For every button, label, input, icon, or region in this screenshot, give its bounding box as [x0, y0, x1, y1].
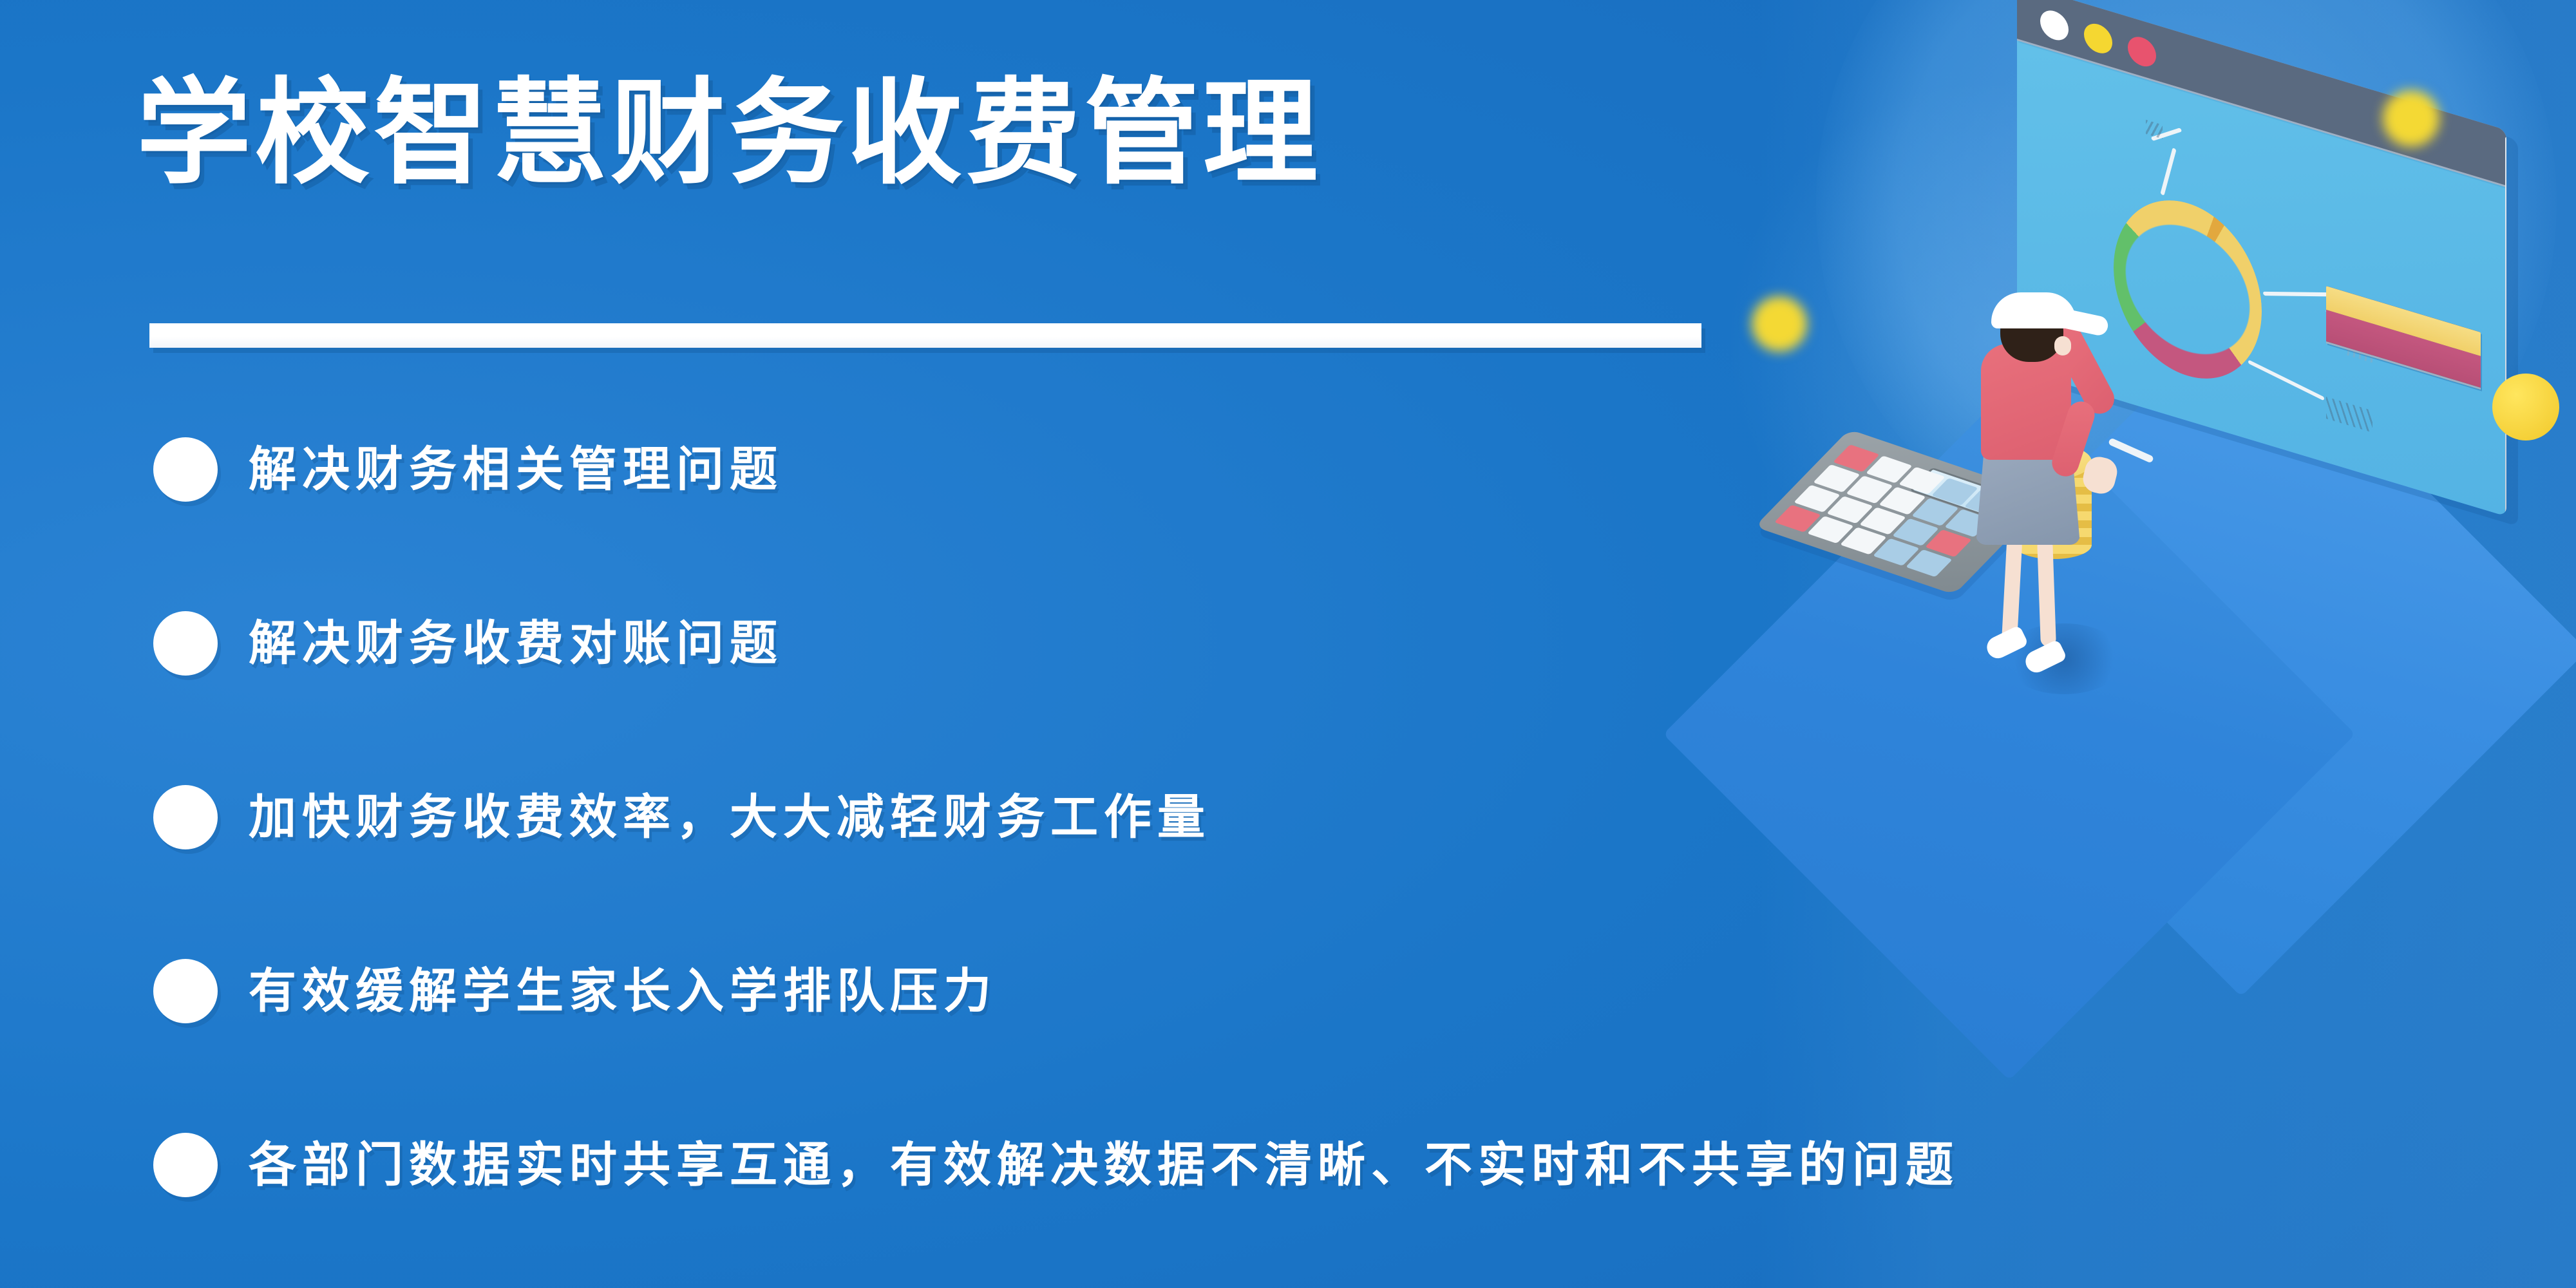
bullet-dot-icon [153, 1133, 218, 1197]
leader-line [2248, 360, 2325, 401]
person-hand [2080, 454, 2120, 497]
yellow-dot-decoration [2383, 90, 2439, 147]
list-item-label: 加快财务收费效率，大大减轻财务工作量 [249, 793, 1211, 841]
pen-icon [2108, 437, 2154, 463]
person-ear [2054, 336, 2071, 355]
promo-banner: 学校智慧财务收费管理 解决财务相关管理问题 解决财务收费对账问题 加快财务收费效… [0, 0, 2576, 1288]
list-item-label: 各部门数据实时共享互通，有效解决数据不清晰、不实时和不共享的问题 [249, 1141, 1959, 1189]
page-title: 学校智慧财务收费管理 [137, 76, 1321, 191]
person-leg [2037, 538, 2056, 647]
title-underline-rule [149, 323, 1701, 348]
analyst-person [1958, 289, 2151, 675]
bullet-dot-icon [153, 611, 218, 676]
bullet-dot-icon [153, 959, 218, 1023]
window-side-edge [2505, 136, 2506, 516]
list-item-label: 有效缓解学生家长入学排队压力 [249, 967, 997, 1015]
white-dot-icon [2040, 7, 2069, 44]
red-dot-icon [2128, 33, 2156, 70]
list-item-label: 解决财务相关管理问题 [249, 446, 783, 493]
bar-chart [2326, 286, 2481, 500]
leader-line [2160, 147, 2176, 196]
bar-column [2326, 286, 2481, 390]
list-item: 各部门数据实时共享互通，有效解决数据不清晰、不实时和不共享的问题 [153, 1121, 2407, 1209]
yellow-sphere-decoration [2492, 374, 2559, 440]
scribble-text [2146, 120, 2163, 139]
bullet-dot-icon [153, 785, 218, 849]
yellow-dot-decoration [1752, 296, 1807, 352]
yellow-dot-icon [2084, 20, 2112, 57]
list-item-label: 解决财务收费对账问题 [249, 620, 783, 667]
hero-illustration [1726, 0, 2576, 927]
bullet-dot-icon [153, 437, 218, 502]
